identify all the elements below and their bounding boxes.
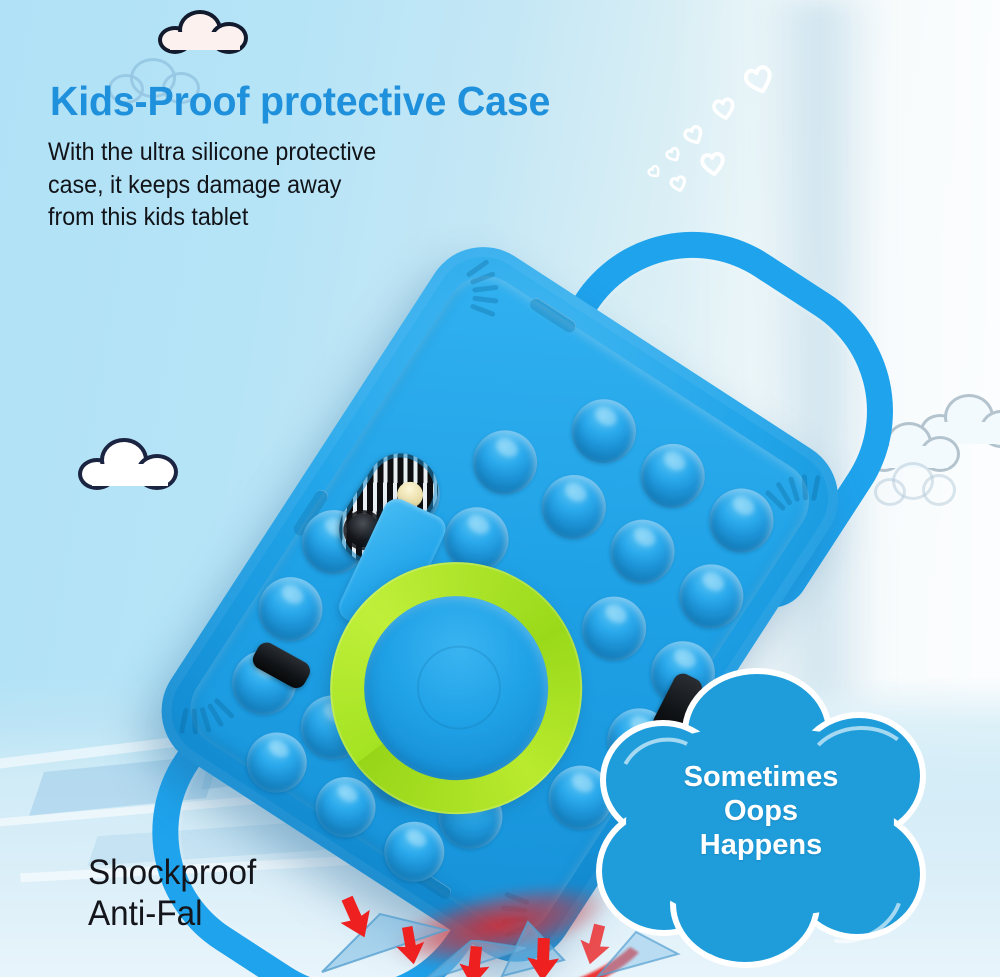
- feature-label-line-2: Anti-Fal: [88, 893, 256, 934]
- callout-line-2: Oops: [596, 794, 926, 828]
- callout-cloud: Sometimes Oops Happens: [596, 668, 926, 968]
- feature-label-shockproof: Shockproof Anti-Fal: [88, 852, 256, 935]
- feature-label-line-1: Shockproof: [88, 852, 256, 893]
- callout-line-3: Happens: [596, 828, 926, 862]
- cloud-decoration-title: [108, 58, 204, 104]
- heart-decoration-4: [698, 150, 727, 177]
- callout-line-1: Sometimes: [596, 760, 926, 794]
- impact-arrow-icon: [525, 937, 561, 977]
- cloud-decoration-top: [158, 8, 254, 56]
- ring-inner-plate: [329, 561, 584, 816]
- impact-arrow-icon: [456, 944, 493, 977]
- callout-text: Sometimes Oops Happens: [596, 760, 926, 863]
- product-marketing-image: Kids-Proof protective Case With the ultr…: [0, 0, 1000, 977]
